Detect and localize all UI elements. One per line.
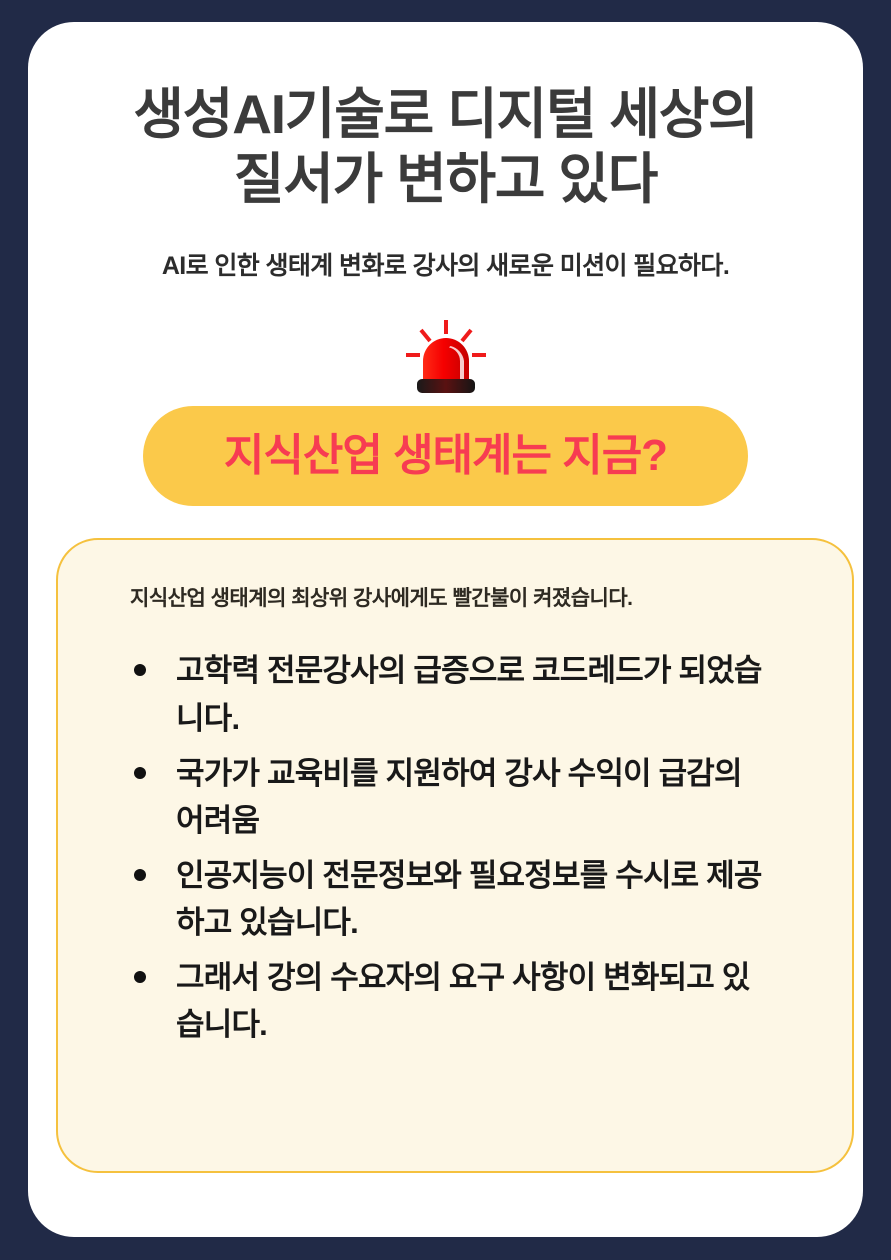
panel-intro-text: 지식산업 생태계의 최상위 강사에게도 빨간불이 켜졌습니다. [130, 584, 806, 613]
highlight-pill-button[interactable]: 지식산업 생태계는 지금? [143, 406, 748, 506]
list-item: 고학력 전문강사의 급증으로 코드레드가 되었습니다. [130, 647, 770, 741]
siren-icon [404, 319, 488, 399]
bullet-list: 고학력 전문강사의 급증으로 코드레드가 되었습니다. 국가가 교육비를 지원하… [130, 647, 806, 1048]
info-panel: 지식산업 생태계의 최상위 강사에게도 빨간불이 켜졌습니다. 고학력 전문강사… [56, 538, 854, 1173]
page-background: 생성AI기술로 디지털 세상의 질서가 변하고 있다 AI로 인한 생태계 변화… [0, 0, 891, 1260]
siren-icon-container [28, 316, 863, 402]
content-card: 생성AI기술로 디지털 세상의 질서가 변하고 있다 AI로 인한 생태계 변화… [28, 22, 863, 1237]
list-item: 그래서 강의 수요자의 요구 사항이 변화되고 있습니다. [130, 954, 770, 1048]
list-item: 국가가 교육비를 지원하여 강사 수익이 급감의 어려움 [130, 750, 770, 844]
page-subtitle: AI로 인한 생태계 변화로 강사의 새로운 미션이 필요하다. [28, 250, 863, 283]
pill-row: 지식산업 생태계는 지금? [28, 406, 863, 506]
page-title: 생성AI기술로 디지털 세상의 질서가 변하고 있다 [28, 82, 863, 213]
list-item: 인공지능이 전문정보와 필요정보를 수시로 제공하고 있습니다. [130, 852, 770, 946]
